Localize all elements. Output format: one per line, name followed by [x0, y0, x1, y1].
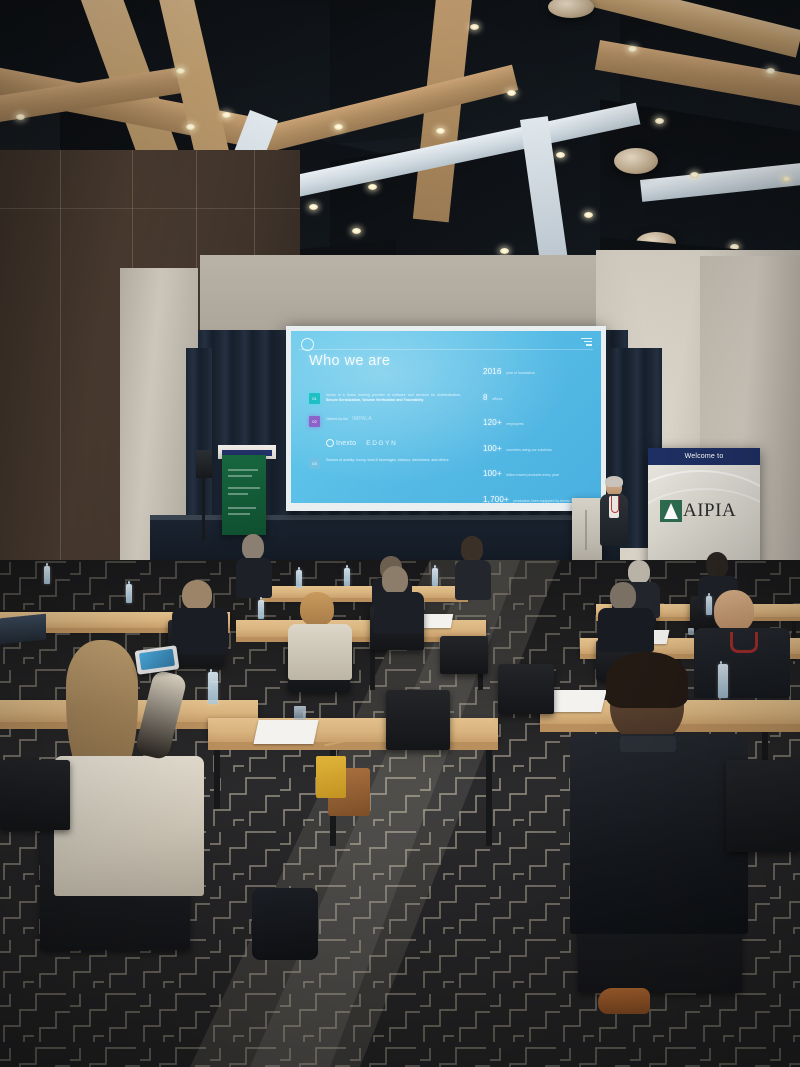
slide-bullet-3: 03 Sectors of activity: luxury, food & b… [309, 458, 461, 469]
chair [726, 760, 800, 852]
stat-label: countries using our solutions [506, 448, 552, 452]
edgyn-logo: EDGYN [366, 440, 397, 447]
ceiling-spotlight [507, 90, 516, 96]
aipia-roll-up-banner: Welcome to AIPIA [648, 448, 760, 573]
slide-title: Who we are [309, 353, 390, 369]
presenter-lanyard [611, 496, 619, 513]
ceiling-spotlight [222, 112, 231, 118]
attendee-torso [374, 592, 424, 634]
stat-value: 1,700+ [483, 495, 509, 504]
stat-value: 8 [483, 393, 488, 402]
banner-welcome-bar: Welcome to [648, 448, 760, 465]
stat-label: year of foundation [506, 371, 535, 375]
stat-label: billion traced products every year [506, 473, 559, 477]
attendee-head [182, 580, 212, 610]
stat-row: 100+ billion traced products every year [483, 463, 591, 481]
attendee-torso [288, 624, 352, 680]
ceiling-spotlight [16, 114, 25, 120]
slide-bullet-2: 02 Owned by the IMPALA [309, 416, 461, 427]
presenter-hair [605, 476, 623, 487]
chair [440, 636, 488, 674]
owned-by-label: Owned by the [326, 417, 348, 422]
yellow-bag [316, 756, 346, 798]
ceiling-spotlight [309, 204, 318, 210]
ceiling-spotlight [584, 212, 593, 218]
table-row-front-center [208, 718, 498, 742]
ceiling-spotlight [176, 68, 185, 74]
ceiling-dome-light [614, 148, 658, 174]
stat-value: 100+ [483, 444, 502, 453]
aipia-logo: AIPIA [660, 500, 736, 522]
notepad [545, 690, 606, 712]
aipia-mark-icon [660, 500, 682, 522]
green-roll-up-banner [222, 455, 266, 535]
bullet-1-pre: Inexto is a Swiss leading provider of so… [326, 393, 461, 397]
table-row-back-mid [262, 586, 468, 598]
attendee-head [610, 582, 636, 610]
ceiling-spotlight [766, 68, 775, 74]
stat-row: 100+ countries using our solutions [483, 438, 591, 456]
attendee-head [300, 592, 334, 626]
water-bottle [208, 672, 218, 704]
water-bottle [126, 584, 132, 603]
slide-bullet-1-text: Inexto is a Swiss leading provider of so… [326, 393, 461, 404]
attendee-torso [570, 734, 748, 934]
ceiling-spotlight [500, 248, 509, 254]
violet-square-icon: 02 [309, 416, 320, 427]
slide-bullet-list: 01 Inexto is a Swiss leading provider of… [309, 393, 461, 481]
slide-bullet-3-text: Sectors of activity: luxury, food & beve… [326, 458, 449, 469]
chair [0, 760, 70, 830]
conference-room-photo: Who we are 01 Inexto is a Swiss leading … [0, 0, 800, 1067]
shoe [598, 988, 650, 1014]
attendee-head [714, 590, 754, 632]
attendee-torso [172, 608, 228, 654]
impala-logo: IMPALA [352, 416, 372, 422]
attendee-head [242, 534, 264, 560]
ceiling-spotlight [334, 124, 343, 130]
backpack [252, 888, 318, 960]
inexto-logo: Inexto [326, 439, 356, 447]
water-bottle [44, 566, 50, 584]
laptop [0, 614, 46, 645]
ceiling-spotlight [352, 228, 361, 234]
ceiling-spotlight [628, 46, 637, 52]
water-bottle [706, 596, 712, 615]
slide-stats-column: 2016 year of foundation 8 offices 120+ e… [483, 361, 591, 503]
slide-divider [299, 349, 593, 350]
water-bottle [296, 570, 302, 588]
brand-logo-row: Inexto EDGYN [326, 439, 461, 447]
presentation-slide: Who we are 01 Inexto is a Swiss leading … [291, 331, 601, 503]
stat-row: 2016 year of foundation [483, 361, 591, 379]
attendee-torso [54, 756, 204, 896]
hamburger-menu-icon [581, 338, 592, 348]
slide-bullet-1: 01 Inexto is a Swiss leading provider of… [309, 393, 461, 404]
faint-square-icon: 03 [309, 458, 320, 469]
chair [386, 690, 450, 750]
stat-row: 120+ employees [483, 412, 591, 430]
lectern [572, 498, 602, 568]
inexto-ring-icon [326, 439, 334, 447]
ceiling-spotlight [470, 24, 479, 30]
teal-square-icon: 01 [309, 393, 320, 404]
stat-label: offices [492, 397, 502, 401]
ceiling-spotlight [655, 118, 664, 124]
attendee-torso [236, 558, 272, 598]
attendee-head [628, 560, 650, 584]
ceiling-spotlight [436, 128, 445, 134]
stat-value: 100+ [483, 469, 502, 478]
ceiling-spotlight [186, 124, 195, 130]
stat-label: employees [506, 422, 523, 426]
stat-row: 8 offices [483, 387, 591, 405]
attendee-head [706, 552, 728, 578]
inexto-logo-text: Inexto [336, 440, 356, 447]
stat-value: 120+ [483, 418, 502, 427]
welcome-text: Welcome to [648, 448, 760, 465]
aipia-wordmark: AIPIA [683, 500, 736, 522]
ceiling-spotlight [556, 152, 565, 158]
water-bottle [258, 600, 264, 619]
water-bottle [718, 664, 728, 698]
water-bottle [344, 568, 350, 586]
water-bottle [432, 568, 438, 586]
chair [498, 664, 554, 714]
attendee-head [461, 536, 483, 562]
ceiling-spotlight [782, 176, 791, 182]
notepad [253, 720, 318, 744]
stat-value: 2016 [483, 367, 502, 376]
drinking-glass [294, 706, 306, 720]
lanyard [730, 632, 758, 653]
pa-speaker [196, 450, 212, 478]
shirt-collar [620, 736, 676, 752]
attendee-hair [606, 652, 688, 708]
attendee-torso [455, 560, 491, 600]
stage-curtain-left [186, 348, 212, 538]
attendee-head [382, 566, 408, 594]
ceiling-spotlight [690, 172, 699, 178]
attendee-torso [598, 608, 654, 652]
bullet-1-post: . [423, 398, 424, 402]
bullet-1-bold: Secure Serialization, Volume Verificatio… [326, 398, 423, 402]
speaker-stand [202, 478, 205, 540]
ceiling-spotlight [368, 184, 377, 190]
